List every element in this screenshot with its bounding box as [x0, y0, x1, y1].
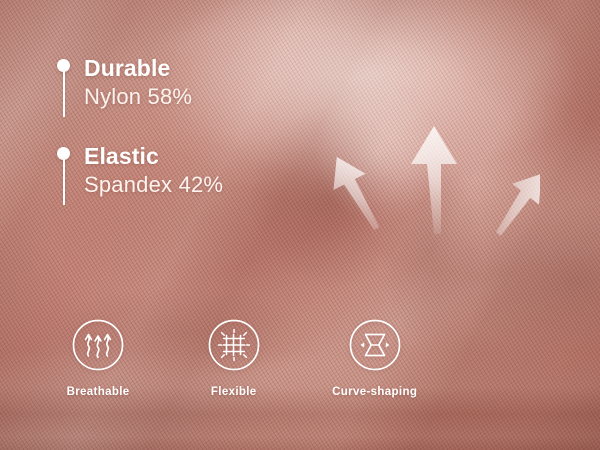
stretch-arrow-center [411, 126, 457, 234]
feature-breathable: Breathable [46, 318, 150, 398]
curve-shaping-icon [348, 318, 402, 372]
material-callout-list: Durable Nylon 58% Elastic Spandex 42% [57, 56, 357, 198]
callout-subtitle-nylon: Nylon 58% [84, 83, 357, 110]
feature-label-flexible: Flexible [211, 386, 257, 398]
callout-subtitle-spandex: Spandex 42% [84, 171, 357, 198]
feature-flexible: Flexible [172, 318, 295, 398]
material-callout-durable: Durable Nylon 58% [57, 56, 357, 110]
callout-title-durable: Durable [84, 56, 357, 82]
pin-marker-icon [57, 59, 71, 117]
pin-marker-icon [57, 147, 71, 205]
stretch-arrow-right [483, 163, 540, 237]
fabric-infographic-poster: Durable Nylon 58% Elastic Spandex 42% [0, 0, 600, 450]
pin-marker-stem [63, 159, 65, 205]
stretch-arrows-icon [330, 112, 540, 237]
feature-label-breathable: Breathable [67, 386, 130, 398]
material-callout-elastic: Elastic Spandex 42% [57, 144, 357, 198]
pin-marker-stem [63, 71, 65, 117]
feature-label-curve-shaping: Curve-shaping [332, 386, 417, 398]
feature-curve-shaping: Curve-shaping [303, 318, 446, 398]
breathable-icon [71, 318, 125, 372]
feature-icon-row: Breathable [46, 318, 446, 398]
callout-title-elastic: Elastic [84, 144, 357, 170]
flexible-icon [207, 318, 261, 372]
